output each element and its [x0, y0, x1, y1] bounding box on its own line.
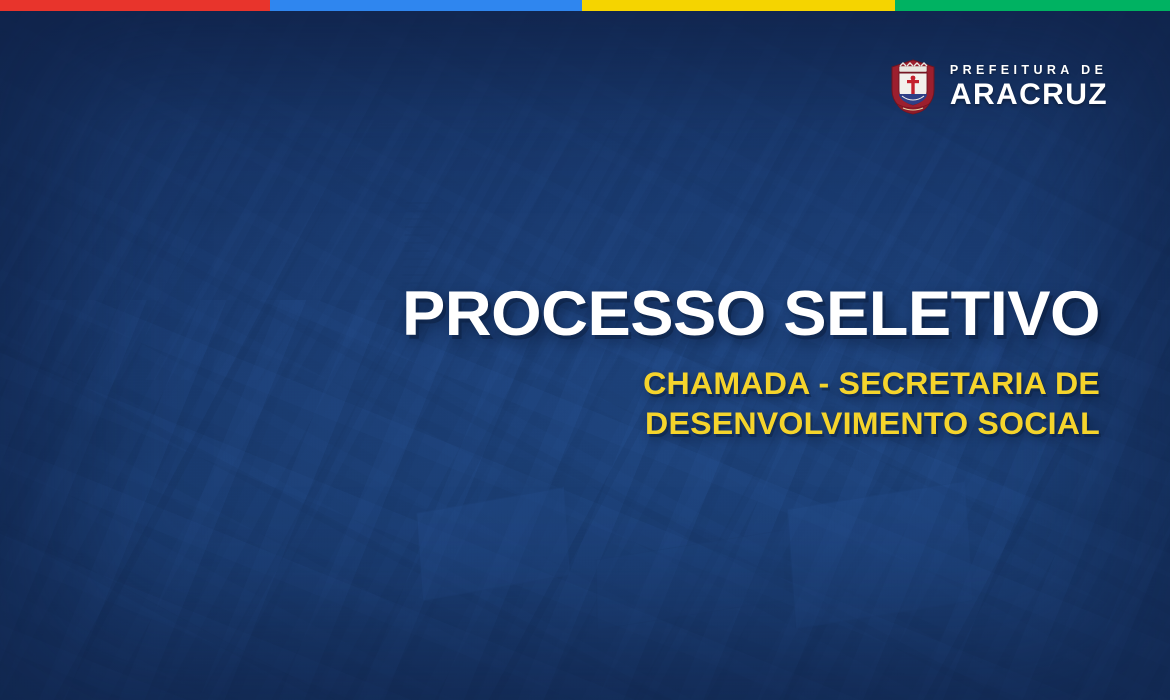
- logo-wordmark: PREFEITURA DE ARACRUZ: [950, 64, 1108, 110]
- color-bar-segment-yellow: [582, 0, 895, 11]
- brand-color-bar: [0, 0, 1170, 11]
- page-subtitle-line-1: CHAMADA - SECRETARIA DE: [386, 363, 1100, 403]
- page-title: PROCESSO SELETIVO: [379, 283, 1100, 346]
- prefeitura-logo: PREFEITURA DE ARACRUZ: [889, 58, 1108, 116]
- color-bar-segment-green: [895, 0, 1170, 11]
- color-bar-segment-blue: [270, 0, 582, 11]
- logo-line-aracruz: ARACRUZ: [950, 80, 1108, 110]
- aracruz-coat-of-arms-icon: [889, 58, 937, 116]
- page-subtitle: CHAMADA - SECRETARIA DE DESENVOLVIMENTO …: [386, 363, 1100, 444]
- poster-canvas: PREFEITURA DE ARACRUZ PROCESSO SELETIVO …: [0, 0, 1170, 700]
- logo-line-prefeitura: PREFEITURA DE: [950, 64, 1107, 77]
- page-subtitle-line-2: DESENVOLVIMENTO SOCIAL: [386, 403, 1100, 443]
- headline-block: PROCESSO SELETIVO CHAMADA - SECRETARIA D…: [400, 283, 1100, 444]
- color-bar-segment-red: [0, 0, 270, 11]
